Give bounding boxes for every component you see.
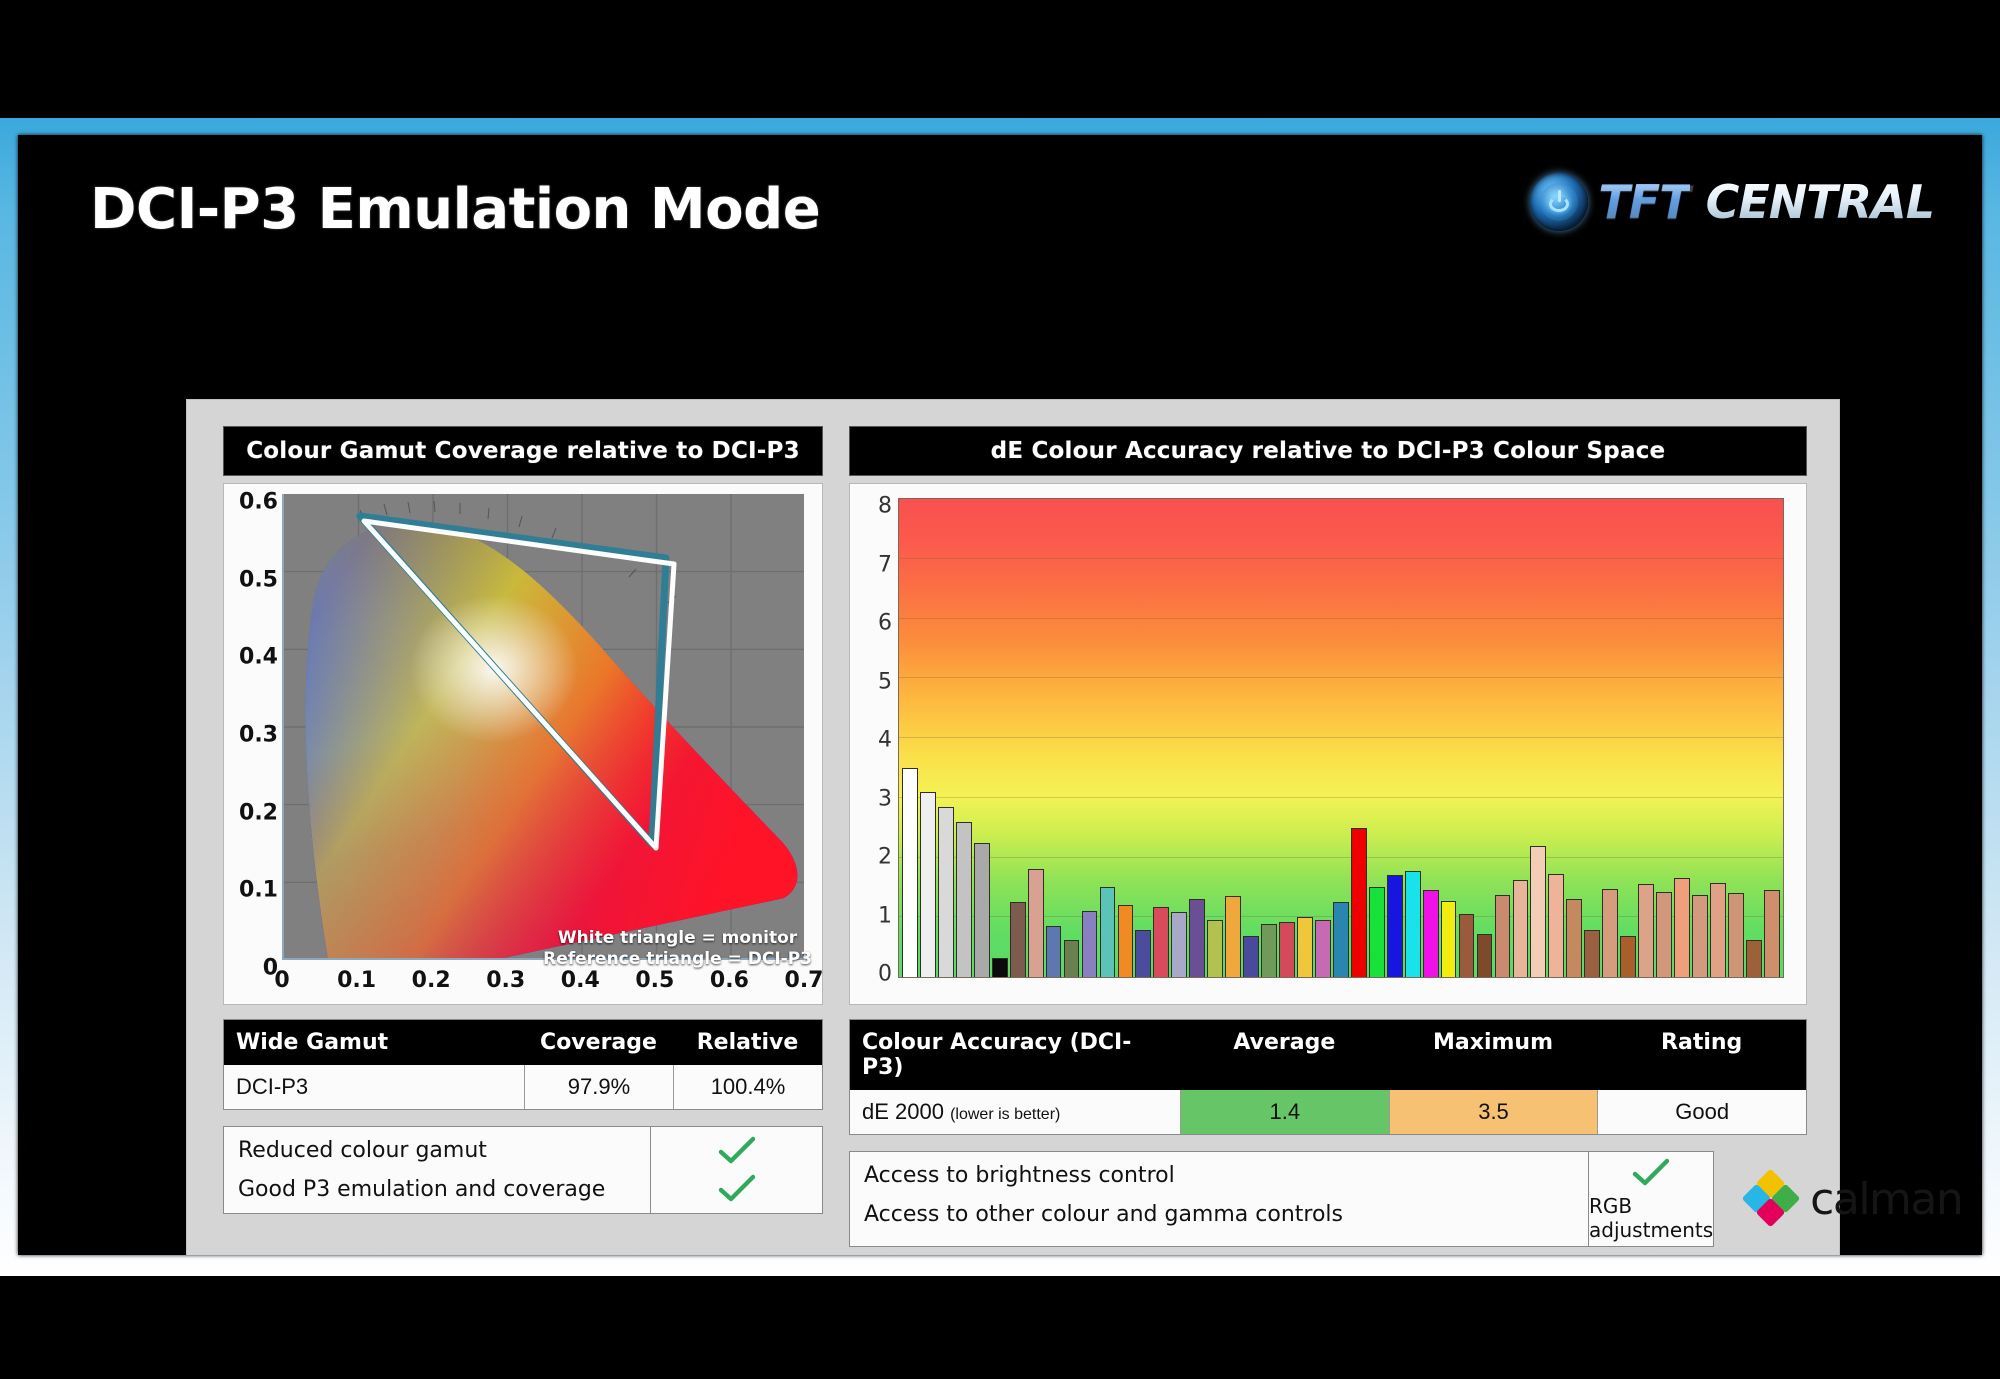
logo-tft-text: TFT xyxy=(1598,175,1689,229)
de-bar xyxy=(1405,871,1421,977)
de-chart: 012345678 xyxy=(849,483,1807,1005)
cie-legend-line-2: Reference triangle = DCI-P3 xyxy=(543,949,812,970)
de-bar xyxy=(1638,884,1654,977)
accuracy-header-0: Colour Accuracy (DCI-P3) xyxy=(850,1020,1180,1090)
de-bar xyxy=(1297,917,1313,977)
de-bar xyxy=(1459,914,1475,977)
de-bar-series xyxy=(899,499,1783,977)
accuracy-header-2: Maximum xyxy=(1389,1020,1598,1090)
de-bar xyxy=(1584,930,1600,977)
de-bar xyxy=(1243,936,1259,977)
list-item: Good P3 emulation and coverage xyxy=(224,1170,650,1209)
cie-legend-line-1: White triangle = monitor xyxy=(543,928,812,949)
accuracy-notes: Access to brightness control Access to o… xyxy=(849,1151,1807,1247)
de-bar xyxy=(1728,893,1744,977)
de-bar xyxy=(1351,828,1367,977)
gamut-row-coverage: 97.9% xyxy=(524,1065,673,1109)
de-bar xyxy=(974,843,990,977)
cie-y-tick: 0.4 xyxy=(239,645,278,670)
cie-x-tick: 0.2 xyxy=(412,968,451,993)
de-bar xyxy=(1441,901,1457,977)
accuracy-table-header: Colour Accuracy (DCI-P3) Average Maximum… xyxy=(850,1020,1806,1090)
de-bar xyxy=(992,958,1008,977)
de-bar xyxy=(1477,934,1493,977)
cie-y-tick: 0.2 xyxy=(239,800,278,825)
cie-chart: 00.10.20.30.40.50.6 00.10.20.30.40.50.60… xyxy=(223,483,823,1005)
accuracy-average-value: 1.4 xyxy=(1180,1090,1389,1134)
de-bar xyxy=(1369,887,1385,977)
accuracy-header-3: Rating xyxy=(1597,1020,1806,1090)
gamut-panel-title: Colour Gamut Coverage relative to DCI-P3 xyxy=(223,426,823,476)
de-bar xyxy=(1028,869,1044,977)
gamut-notes: Reduced colour gamut Good P3 emulation a… xyxy=(223,1126,823,1214)
gamut-header-1: Coverage xyxy=(524,1020,673,1065)
power-orb-icon xyxy=(1530,173,1588,231)
de-y-tick: 1 xyxy=(878,903,892,928)
de-bar xyxy=(1692,895,1708,977)
report-panel: Colour Gamut Coverage relative to DCI-P3… xyxy=(186,399,1840,1255)
de-bar xyxy=(1225,896,1241,977)
tftcentral-logo: TFT CENTRAL xyxy=(1530,173,1934,231)
table-row: DCI-P3 97.9% 100.4% xyxy=(224,1065,822,1109)
de-bar xyxy=(1530,846,1546,977)
check-icon xyxy=(717,1172,757,1206)
cie-plot-area xyxy=(282,494,804,960)
accuracy-maximum-value: 3.5 xyxy=(1389,1090,1598,1134)
de-bar xyxy=(1423,890,1439,977)
de-bar xyxy=(1620,936,1636,977)
de-bar xyxy=(1118,905,1134,977)
cie-x-tick: 0 xyxy=(274,968,289,993)
de-bar xyxy=(1171,912,1187,977)
calman-wordmark: calman xyxy=(1810,1174,1962,1225)
cie-y-tick: 0.6 xyxy=(239,490,278,515)
de-bar xyxy=(1513,880,1529,977)
de-bar xyxy=(1153,907,1169,978)
de-bar xyxy=(1746,940,1762,977)
de-bar xyxy=(1495,895,1511,977)
check-icon xyxy=(717,1134,757,1168)
de-bar xyxy=(1064,940,1080,977)
de-y-tick: 5 xyxy=(878,669,892,694)
gamut-header-2: Relative xyxy=(673,1020,822,1065)
accuracy-notes-checks: RGB adjustments xyxy=(1589,1151,1714,1247)
de-y-tick: 3 xyxy=(878,786,892,811)
calman-logo: calman xyxy=(1744,1171,1962,1227)
gamut-header-0: Wide Gamut xyxy=(224,1020,524,1065)
cie-x-tick: 0.6 xyxy=(710,968,749,993)
cie-x-tick: 0.7 xyxy=(785,968,824,993)
de-y-tick: 2 xyxy=(878,845,892,870)
logo-central-text: CENTRAL xyxy=(1706,175,1934,229)
page-title: DCI-P3 Emulation Mode xyxy=(90,177,820,242)
de-bar xyxy=(1333,902,1349,977)
gamut-table-header: Wide Gamut Coverage Relative xyxy=(224,1020,822,1065)
list-item: Access to other colour and gamma control… xyxy=(850,1195,1588,1234)
cie-y-axis: 00.10.20.30.40.50.6 xyxy=(232,492,278,962)
cie-legend-note: White triangle = monitor Reference trian… xyxy=(543,928,812,971)
cie-y-tick: 0.3 xyxy=(239,723,278,748)
de-y-tick: 8 xyxy=(878,494,892,519)
de-bar xyxy=(1189,899,1205,977)
de-bar xyxy=(1764,890,1780,977)
de-y-tick: 7 xyxy=(878,552,892,577)
accuracy-notes-list: Access to brightness control Access to o… xyxy=(849,1151,1589,1247)
screenshot-root: DCI-P3 Emulation Mode TFT CENTRAL Colour… xyxy=(0,0,2000,1379)
de-y-tick: 0 xyxy=(878,962,892,987)
de-bar xyxy=(1046,926,1062,977)
de-bar xyxy=(1082,911,1098,977)
cie-y-tick: 0.1 xyxy=(239,878,278,903)
gamut-column: Colour Gamut Coverage relative to DCI-P3… xyxy=(223,426,823,1214)
cie-x-tick: 0.3 xyxy=(486,968,525,993)
gamut-table: Wide Gamut Coverage Relative DCI-P3 97.9… xyxy=(223,1019,823,1110)
accuracy-table: Colour Accuracy (DCI-P3) Average Maximum… xyxy=(849,1019,1807,1135)
check-icon xyxy=(1631,1156,1671,1190)
de2000-sublabel: (lower is better) xyxy=(950,1106,1060,1123)
cie-y-tick: 0.5 xyxy=(239,567,278,592)
rgb-adjustments-label: RGB adjustments xyxy=(1589,1194,1713,1242)
de-bar xyxy=(920,792,936,977)
de-bar xyxy=(1387,875,1403,977)
de-plot-area xyxy=(898,498,1784,978)
cie-x-axis: 00.10.20.30.40.50.60.7 xyxy=(278,968,808,996)
de-panel-title: dE Colour Accuracy relative to DCI-P3 Co… xyxy=(849,426,1807,476)
gamut-row-name: DCI-P3 xyxy=(224,1065,524,1109)
cie-diagram-svg xyxy=(284,494,804,960)
de-bar xyxy=(1566,899,1582,977)
de2000-label: dE 2000 xyxy=(862,1099,944,1124)
de-bar xyxy=(1548,874,1564,977)
table-row: dE 2000 (lower is better) 1.4 3.5 Good xyxy=(850,1090,1806,1134)
de-bar xyxy=(1207,920,1223,977)
calman-diamond-icon xyxy=(1744,1171,1800,1227)
de-bar xyxy=(1135,930,1151,977)
de-bar xyxy=(1315,920,1331,977)
cie-x-tick: 0.5 xyxy=(635,968,674,993)
gamut-row-relative: 100.4% xyxy=(673,1065,822,1109)
de-bar xyxy=(1656,892,1672,977)
de-bar xyxy=(1710,883,1726,977)
list-item: Access to brightness control xyxy=(850,1156,1588,1195)
de-bar xyxy=(956,822,972,977)
accuracy-header-1: Average xyxy=(1180,1020,1389,1090)
de-bar xyxy=(1279,922,1295,977)
accuracy-rating-value: Good xyxy=(1597,1090,1806,1134)
de-bar xyxy=(902,768,918,977)
de-bar xyxy=(1100,887,1116,977)
cie-x-tick: 0.1 xyxy=(337,968,376,993)
de-bar xyxy=(1674,878,1690,977)
list-item: Reduced colour gamut xyxy=(224,1131,650,1170)
de-bar xyxy=(1010,902,1026,977)
de-bar xyxy=(1602,889,1618,977)
de-bar xyxy=(1261,924,1277,977)
accuracy-column: dE Colour Accuracy relative to DCI-P3 Co… xyxy=(849,426,1807,1247)
de-y-tick: 6 xyxy=(878,611,892,636)
gamut-notes-list: Reduced colour gamut Good P3 emulation a… xyxy=(223,1126,651,1214)
de-y-axis: 012345678 xyxy=(856,492,892,972)
slide: DCI-P3 Emulation Mode TFT CENTRAL Colour… xyxy=(18,135,1982,1255)
de-y-tick: 4 xyxy=(878,728,892,753)
gamut-notes-checks xyxy=(651,1126,823,1214)
cie-x-tick: 0.4 xyxy=(561,968,600,993)
de-bar xyxy=(938,807,954,977)
accuracy-row-label: dE 2000 (lower is better) xyxy=(850,1090,1180,1134)
